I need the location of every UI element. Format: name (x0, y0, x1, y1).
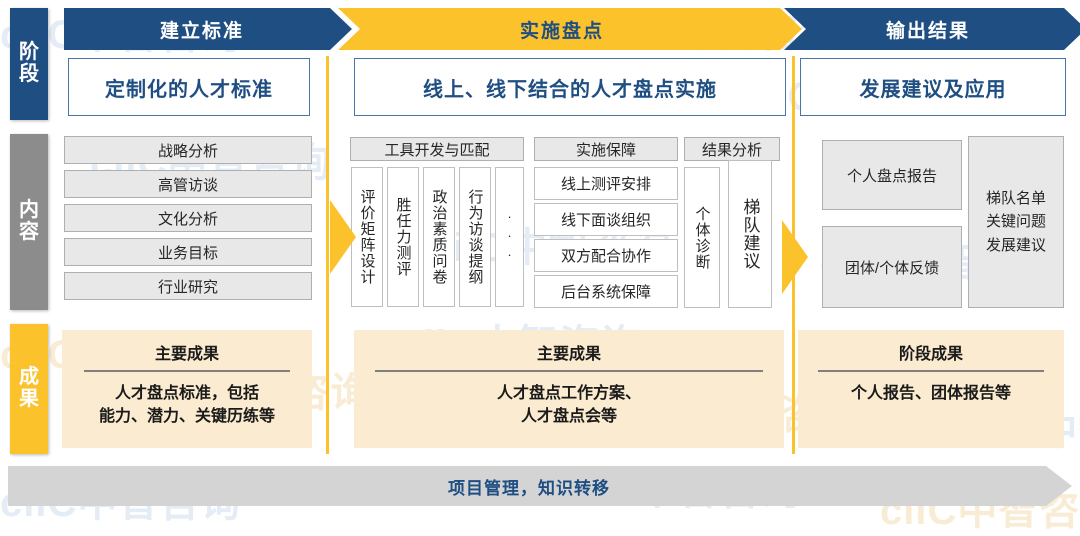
tool-card[interactable]: 胜任力测评 (387, 167, 419, 307)
list-item[interactable]: 战略分析 (64, 136, 312, 164)
result-card[interactable]: 个体诊断 (684, 167, 720, 308)
group-header-result: 结果分析 (684, 137, 780, 161)
list-item-label: 业务目标 (158, 242, 218, 263)
support-card[interactable]: 线下面谈组织 (534, 203, 678, 236)
outcome-body-2: 人才盘点工作方案、 人才盘点会等 (497, 382, 641, 428)
group-header-tools: 工具开发与匹配 (350, 137, 524, 161)
rail-label-content-text: 内容 (18, 200, 40, 243)
tool-card-label: 行为访谈提纲 (468, 189, 483, 285)
output-card[interactable]: 团体/个体反馈 (822, 226, 962, 308)
output-card[interactable]: 个人盘点报告 (822, 140, 962, 210)
result-card[interactable]: 梯队建议 (728, 160, 772, 308)
output-card-label: 团体/个体反馈 (845, 257, 939, 278)
support-card-label: 双方配合协作 (561, 245, 651, 266)
group-header-support-label: 实施保障 (576, 139, 636, 160)
list-item-label: 战略分析 (158, 140, 218, 161)
output-card-summary-label: 梯队名单 关键问题 发展建议 (986, 187, 1046, 257)
group-header-tools-label: 工具开发与匹配 (384, 139, 489, 160)
outcome-title-3: 阶段成果 (899, 340, 963, 364)
list-item-label: 高管访谈 (158, 174, 218, 195)
group-header-result-label: 结果分析 (702, 139, 762, 160)
result-card-label: 个体诊断 (695, 206, 710, 270)
outcome-panel-3: 阶段成果 个人报告、团体报告等 (798, 330, 1064, 448)
tool-card[interactable]: 政治素质问卷 (423, 167, 455, 307)
support-card-label: 线上测评安排 (561, 173, 651, 194)
tool-card-label: 政治素质问卷 (432, 189, 447, 285)
column-divider-1 (326, 56, 329, 454)
outcome-title-1: 主要成果 (155, 340, 219, 364)
list-item[interactable]: 业务目标 (64, 238, 312, 266)
tool-card-label: 评价矩阵设计 (360, 189, 375, 285)
phase-title-1: 定制化的人才标准 (68, 58, 310, 116)
phase-banner-2[interactable]: 实施盘点 (338, 8, 802, 50)
flow-arrow-right-icon-2 (782, 220, 808, 294)
list-item[interactable]: 高管访谈 (64, 170, 312, 198)
rail-label-stage-text: 阶段 (18, 42, 40, 85)
phase-banner-1[interactable]: 建立标准 (64, 8, 352, 50)
rail-label-content: 内容 (10, 134, 48, 310)
column1-content-list: 战略分析 高管访谈 文化分析 业务目标 行业研究 (64, 136, 312, 306)
outcome-title-2: 主要成果 (537, 340, 601, 364)
outcome-panel-2: 主要成果 人才盘点工作方案、 人才盘点会等 (354, 330, 784, 448)
list-item-label: 文化分析 (158, 208, 218, 229)
list-item-label: 行业研究 (158, 276, 218, 297)
phase-title-1-label: 定制化的人才标准 (105, 73, 273, 102)
phase-banner-1-label: 建立标准 (160, 16, 244, 43)
rail-label-stage: 阶段 (10, 8, 48, 120)
phase-title-2-label: 线上、线下结合的人才盘点实施 (423, 73, 717, 102)
outcome-divider-3 (818, 370, 1044, 372)
group-header-support: 实施保障 (534, 137, 678, 161)
list-item[interactable]: 行业研究 (64, 272, 312, 300)
list-item[interactable]: 文化分析 (64, 204, 312, 232)
outcome-panel-1: 主要成果 人才盘点标准，包括 能力、潜力、关键历练等 (62, 330, 312, 448)
support-card-label: 线下面谈组织 (561, 209, 651, 230)
rail-label-outcome-text: 成果 (18, 367, 40, 410)
phase-title-3: 发展建议及应用 (800, 58, 1066, 116)
support-card[interactable]: 双方配合协作 (534, 239, 678, 272)
output-card-label: 个人盘点报告 (847, 165, 937, 186)
output-card-summary[interactable]: 梯队名单 关键问题 发展建议 (968, 136, 1064, 308)
support-card-label: 后台系统保障 (561, 281, 651, 302)
support-card[interactable]: 后台系统保障 (534, 275, 678, 308)
phase-title-3-label: 发展建议及应用 (860, 73, 1007, 102)
phase-title-2: 线上、线下结合的人才盘点实施 (354, 58, 786, 116)
bottom-banner-label: 项目管理，知识转移 (448, 474, 610, 499)
tool-card[interactable]: 行为访谈提纲 (459, 167, 491, 307)
phase-banner-3-label: 输出结果 (886, 16, 970, 43)
outcome-divider-1 (84, 370, 290, 372)
outcome-body-3: 个人报告、团体报告等 (851, 382, 1011, 405)
tool-card-ellipsis-label: ··· (503, 209, 516, 266)
outcome-body-1: 人才盘点标准，包括 能力、潜力、关键历练等 (99, 382, 275, 428)
result-card-label: 梯队建议 (742, 198, 759, 270)
outcome-divider-2 (375, 370, 763, 372)
process-diagram: 阶段 内容 成果 建立标准 实施盘点 输出结果 定制化的人才标准 线上、线下结合… (0, 0, 1080, 519)
tool-card-label: 胜任力测评 (396, 197, 411, 277)
rail-label-outcome: 成果 (10, 324, 48, 454)
tool-card-ellipsis: ··· (495, 167, 524, 307)
phase-banner-3[interactable]: 输出结果 (784, 8, 1080, 50)
phase-banner-2-label: 实施盘点 (520, 16, 604, 43)
bottom-banner[interactable]: 项目管理，知识转移 (8, 466, 1072, 506)
support-card[interactable]: 线上测评安排 (534, 167, 678, 200)
